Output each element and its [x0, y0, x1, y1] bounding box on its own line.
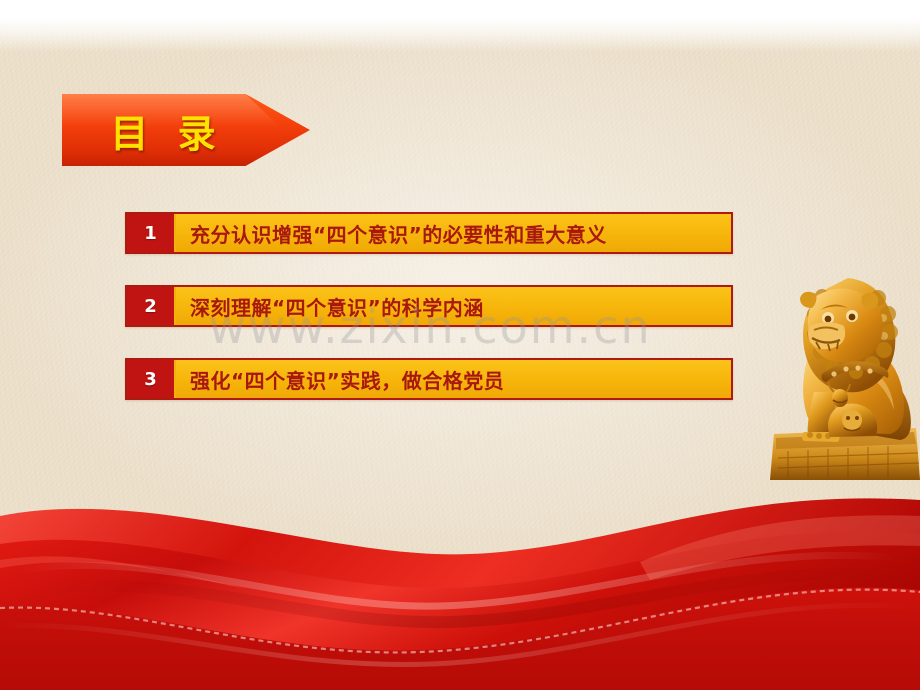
guardian-lion-statue — [770, 252, 920, 480]
agenda-list: 1 充分认识增强“四个意识”的必要性和重大意义 2 深刻理解“四个意识”的科学内… — [125, 212, 733, 400]
agenda-item-label: 充分认识增强“四个意识”的必要性和重大意义 — [176, 214, 731, 252]
footer-date: 2/27/2024 — [44, 632, 131, 652]
slide-footer: 2/27/2024 2 — [0, 620, 920, 690]
agenda-item-number: 1 — [127, 214, 176, 252]
agenda-item-number: 2 — [127, 287, 176, 325]
agenda-item-label: 深刻理解“四个意识”的科学内涵 — [176, 287, 731, 325]
slide-root: 目 录 — [0, 0, 920, 690]
page-title: 目 录 — [62, 94, 310, 166]
title-banner: 目 录 — [62, 94, 310, 166]
top-fade-overlay — [0, 18, 920, 52]
agenda-item-label: 强化“四个意识”实践，做合格党员 — [176, 360, 731, 398]
agenda-item-number: 3 — [127, 360, 176, 398]
agenda-item-2[interactable]: 2 深刻理解“四个意识”的科学内涵 — [125, 285, 733, 327]
agenda-item-1[interactable]: 1 充分认识增强“四个意识”的必要性和重大意义 — [125, 212, 733, 254]
footer-page-number: 2 — [867, 632, 878, 652]
agenda-item-3[interactable]: 3 强化“四个意识”实践，做合格党员 — [125, 358, 733, 400]
